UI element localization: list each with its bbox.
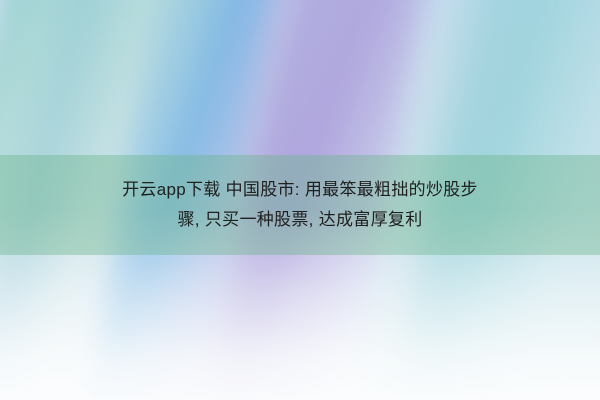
promo-banner: 开云app下载 中国股市: 用最笨最粗拙的炒股步 骤, 只买一种股票, 达成富厚… xyxy=(0,0,600,400)
caption-line-1: 开云app下载 中国股市: 用最笨最粗拙的炒股步 xyxy=(122,178,478,202)
caption-line-2: 骤, 只买一种股票, 达成富厚复利 xyxy=(178,208,423,232)
caption-text-block: 开云app下载 中国股市: 用最笨最粗拙的炒股步 骤, 只买一种股票, 达成富厚… xyxy=(0,155,600,255)
